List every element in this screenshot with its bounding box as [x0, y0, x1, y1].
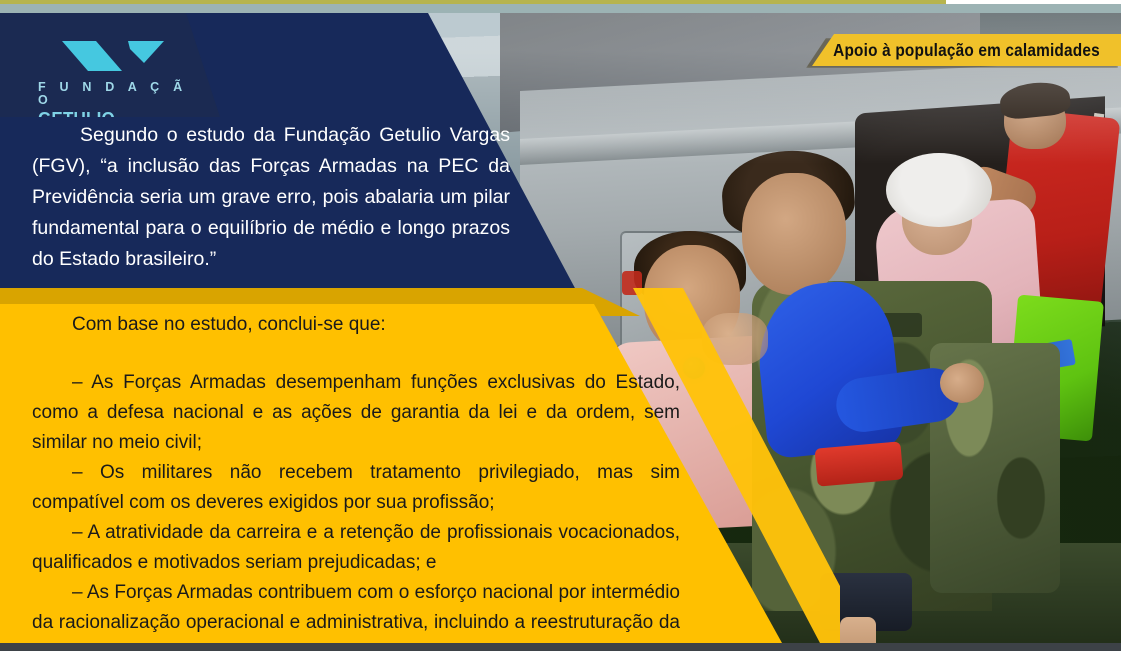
child-hand	[940, 363, 984, 403]
fgv-logo: F U N D A Ç Ã O GETULIO VARGAS	[38, 39, 188, 121]
conclusion-item-2: – Os militares não recebem tratamento pr…	[32, 458, 680, 518]
child-leg	[840, 617, 876, 643]
bottom-bar	[0, 643, 1121, 651]
conclusion-text-block: Com base no estudo, conclui-se que: – As…	[32, 310, 680, 651]
conclusion-item-1: – As Forças Armadas desempenham funções …	[32, 368, 680, 458]
child-red-shirt	[815, 441, 904, 486]
conclusion-item-3: – A atratividade da carreira e a retençã…	[32, 518, 680, 578]
fgv-v-mark-icon	[60, 39, 170, 73]
topic-ribbon-label: Apoio à população em calamidades	[831, 34, 1103, 66]
soldier-head	[742, 173, 846, 295]
conclusion-intro: Com base no estudo, conclui-se que:	[32, 310, 680, 340]
fgv-logo-line1: F U N D A Ç Ã O	[38, 81, 188, 106]
conclusion-item-4: – As Forças Armadas contribuem com o esf…	[32, 578, 680, 651]
presentation-slide: F U N D A Ç Ã O GETULIO VARGAS Segundo o…	[0, 0, 1121, 651]
topic-ribbon-badge: Apoio à população em calamidades	[812, 34, 1121, 66]
fgv-quote-text: Segundo o estudo da Fundação Getulio Var…	[32, 120, 510, 275]
top-teal-strip	[0, 4, 1121, 13]
elderly-woman-hair	[886, 153, 992, 227]
